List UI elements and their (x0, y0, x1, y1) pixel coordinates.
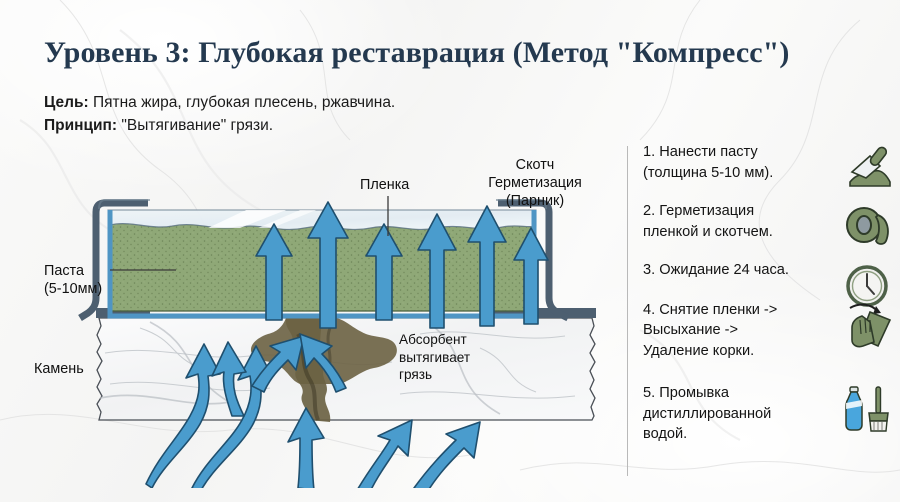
label-film: Пленка (360, 176, 409, 194)
label-absorbent: Абсорбент вытягивает грязь (399, 331, 470, 384)
step-4-text: 4. Снятие пленки -> Высыхание -> Удалени… (641, 300, 833, 362)
step-item-3: 3. Ожидание 24 часа. (641, 260, 900, 281)
vertical-divider (627, 146, 628, 476)
scrub-brush-icon (869, 387, 888, 431)
step-5-text: 5. Промывка дистиллированной водой. (641, 383, 833, 445)
step-item-4: 4. Снятие пленки -> Высыхание -> Удалени… (641, 300, 900, 362)
tape-highlight (99, 200, 546, 209)
step-1-text: 1. Нанести пасту (толщина 5-10 мм). (641, 142, 833, 183)
goal-label: Цель: (44, 94, 89, 111)
label-paste: Паста (5-10мм) (44, 262, 102, 298)
step-item-5: 5. Промывка дистиллированной водой. (641, 383, 900, 445)
water-bottle-icon (846, 387, 862, 430)
step-item-1: 1. Нанести пасту (толщина 5-10 мм). (641, 142, 900, 183)
bottle-brush-icon (840, 383, 896, 435)
principle-label: Принцип: (44, 117, 117, 134)
goal-line: Цель: Пятна жира, глубокая плесень, ржав… (44, 94, 395, 112)
trowel-icon (840, 142, 896, 194)
step-item-2: 2. Герметизация пленкой и скотчем. (641, 201, 900, 242)
infographic-canvas: Уровень 3: Глубокая реставрация (Метод "… (0, 0, 900, 502)
steps-list: 1. Нанести пасту (толщина 5-10 мм). 2. Г… (641, 142, 900, 445)
goal-text: Пятна жира, глубокая плесень, ржавчина. (89, 94, 396, 111)
label-tape: Скотч Герметизация (Парник) (480, 156, 590, 210)
principle-text: "Вытягивание" грязи. (117, 117, 273, 134)
page-title: Уровень 3: Глубокая реставрация (Метод "… (44, 36, 790, 70)
principle-line: Принцип: "Вытягивание" грязи. (44, 117, 273, 135)
step-3-text: 3. Ожидание 24 часа. (641, 260, 833, 281)
step-2-text: 2. Герметизация пленкой и скотчем. (641, 201, 833, 242)
compress-method-diagram: Пленка Скотч Герметизация (Парник) Паста… (0, 148, 627, 488)
label-stone: Камень (34, 360, 84, 378)
tape-roll-icon (840, 201, 896, 253)
hand-peel-icon (840, 300, 896, 352)
